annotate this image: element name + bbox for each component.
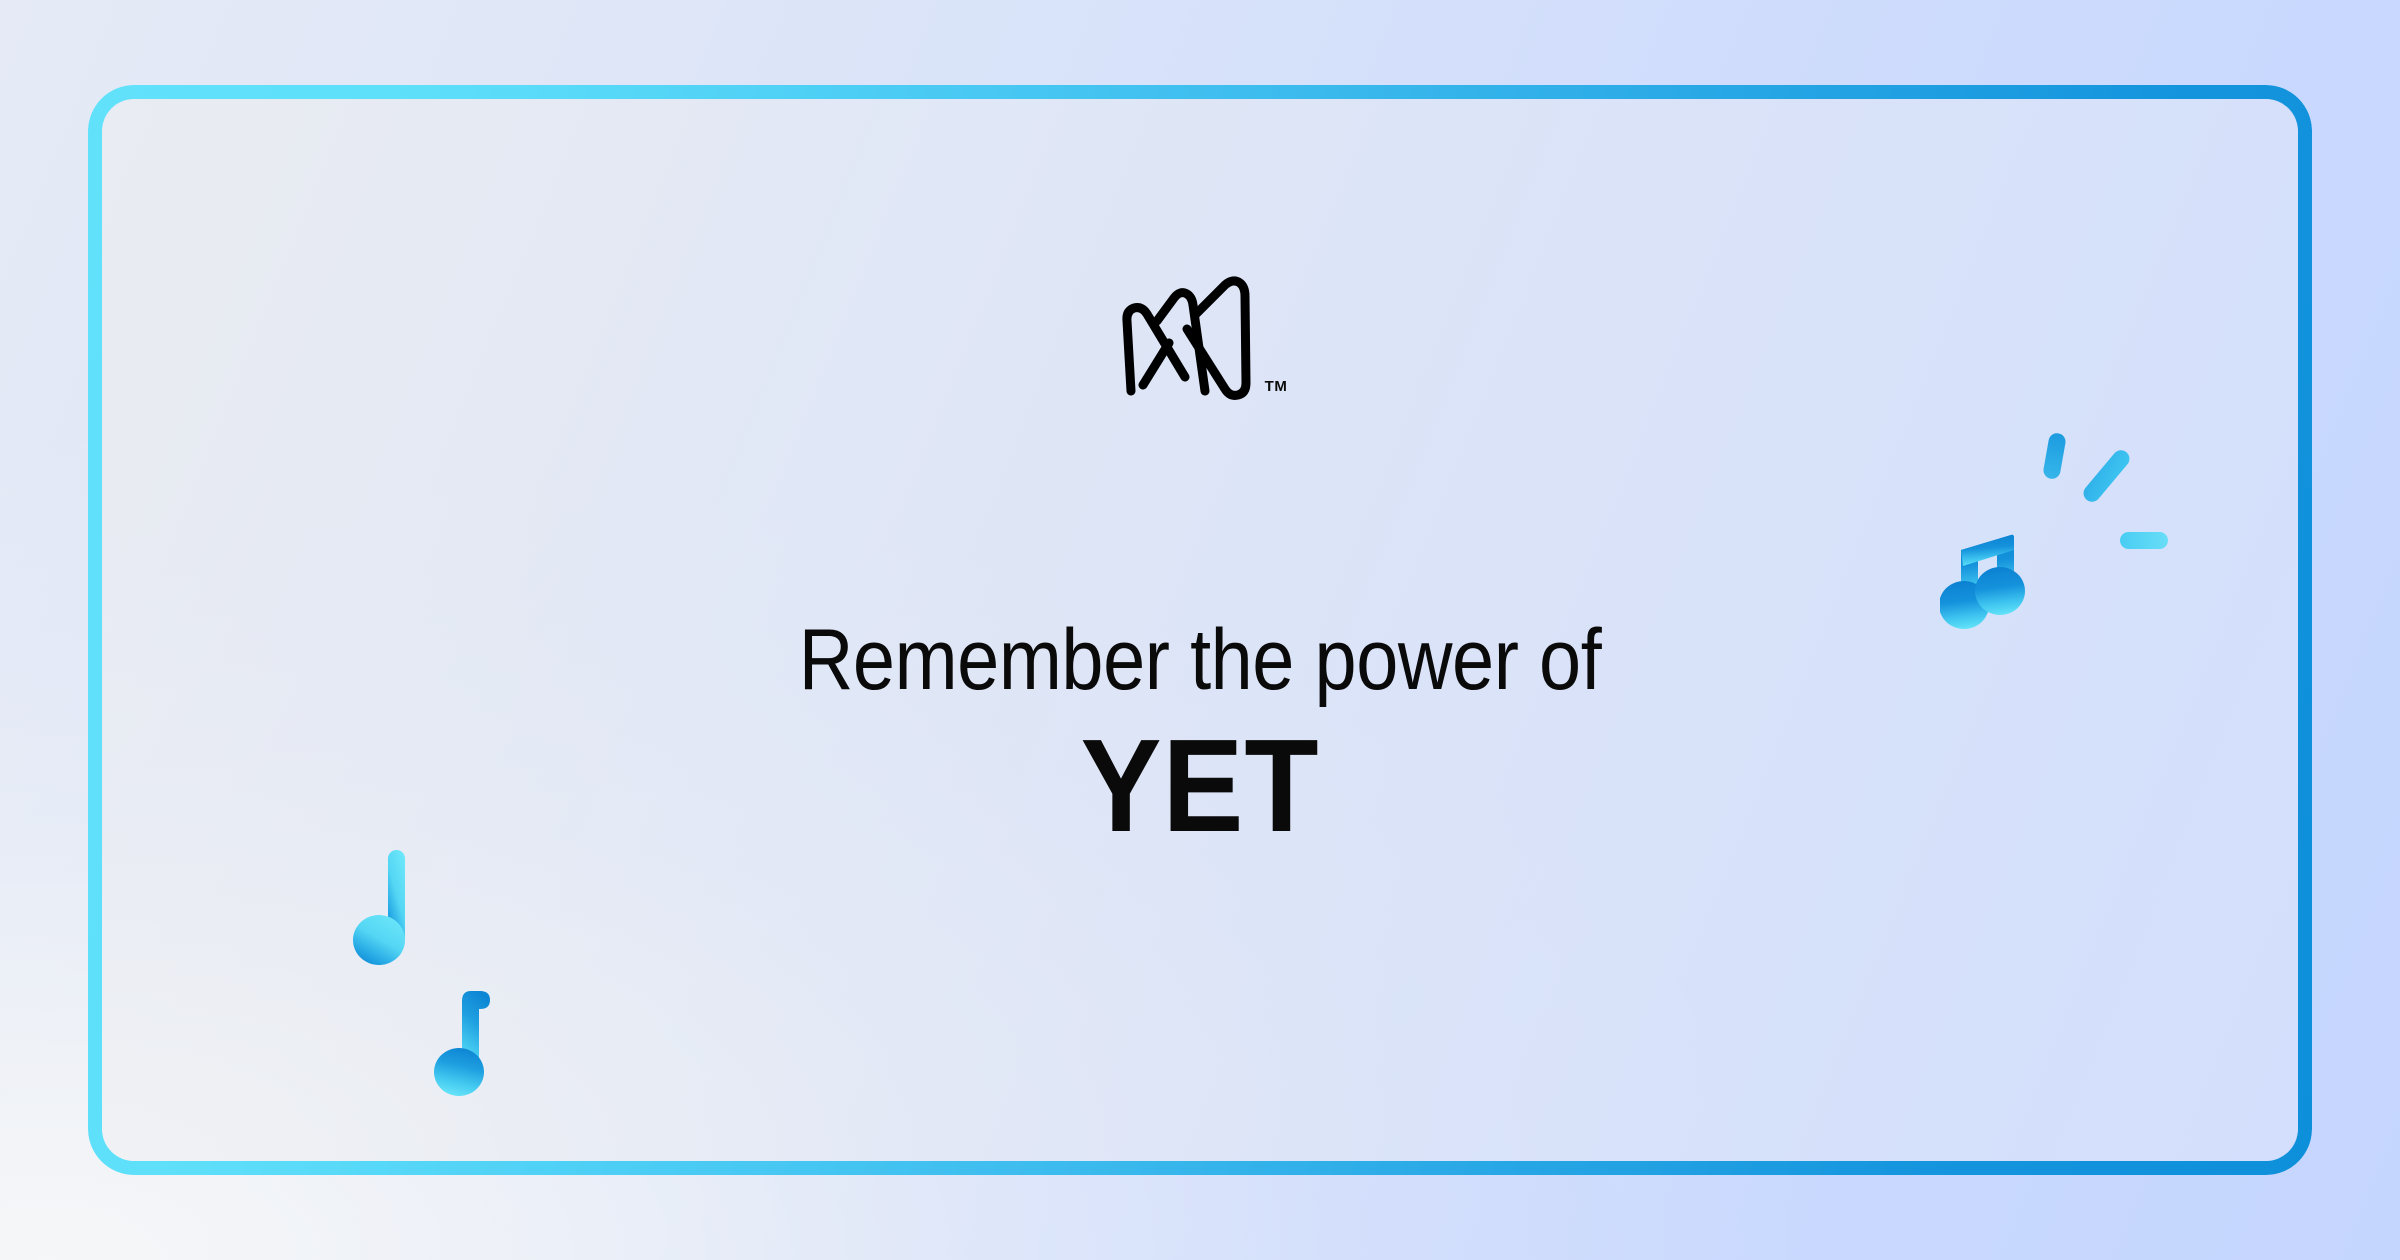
eighth-note-icon <box>432 987 542 1107</box>
headline-line-2: YET <box>190 720 2210 852</box>
brand-logo: TM <box>102 273 2298 403</box>
sparkle-dash-horizontal <box>2120 532 2168 549</box>
brand-monogram-icon <box>1113 273 1263 403</box>
note-stem-flag <box>462 991 490 1077</box>
rounded-gradient-frame: TM Remember the power of YET <box>88 85 2312 1175</box>
note-stem <box>388 850 405 945</box>
poster-canvas: TM Remember the power of YET <box>0 0 2400 1260</box>
frame-inner-panel: TM Remember the power of YET <box>102 99 2298 1161</box>
sparkle-dash-vertical <box>2042 432 2067 480</box>
quarter-note-icon <box>342 847 442 977</box>
headline-block: Remember the power of YET <box>102 615 2298 852</box>
headline-line-1: Remember the power of <box>234 615 2166 706</box>
sparkle-dash-diagonal <box>2080 447 2133 505</box>
note-head <box>434 1048 484 1096</box>
note-head-right <box>1975 567 2025 615</box>
trademark-symbol: TM <box>1265 379 1288 394</box>
note-head <box>353 915 405 965</box>
note-body <box>1961 535 2014 601</box>
